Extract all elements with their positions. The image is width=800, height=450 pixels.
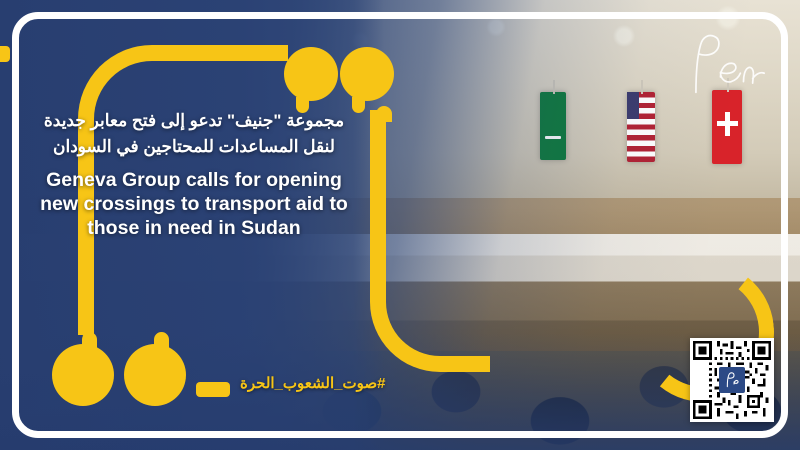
quote-bubble-icon	[52, 344, 114, 406]
headline-english: Geneva Group calls for opening new cross…	[34, 168, 354, 241]
qr-center-logo	[719, 367, 745, 393]
qr-code-matrix	[693, 341, 771, 419]
pen-watermark-logo	[676, 28, 768, 100]
quote-bubble-icon	[284, 47, 338, 101]
quote-bubble-icon	[340, 47, 394, 101]
yellow-dash-mark	[196, 382, 230, 397]
quote-bubble-icon	[124, 344, 186, 406]
social-media-news-card: مجموعة "جنيف" تدعو إلى فتح معابر جديدة ل…	[0, 0, 800, 450]
hashtag-label: #صوت_الشعوب_الحرة	[240, 374, 385, 392]
headline-block: مجموعة "جنيف" تدعو إلى فتح معابر جديدة ل…	[34, 108, 354, 240]
yellow-edge-tab	[0, 46, 10, 62]
yellow-corner-bracket-right	[370, 110, 490, 372]
qr-code[interactable]	[690, 338, 774, 422]
yellow-bracket-end-cap-right	[376, 106, 392, 122]
headline-arabic: مجموعة "جنيف" تدعو إلى فتح معابر جديدة ل…	[34, 108, 354, 160]
